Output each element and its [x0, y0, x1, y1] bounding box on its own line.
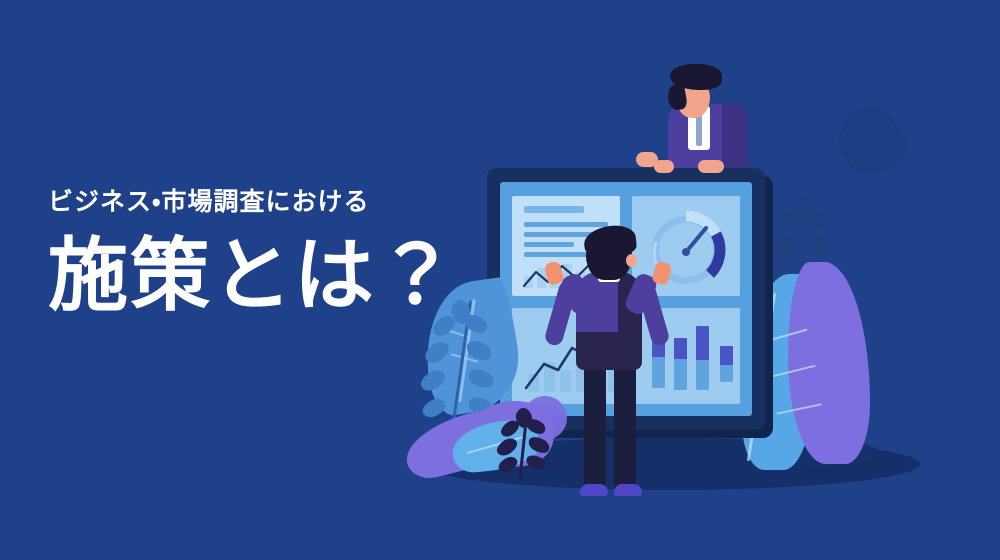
presenter-ear: [626, 254, 637, 267]
presenter-shoe-left: [580, 484, 608, 496]
presenter-shoe-right: [614, 484, 642, 496]
observer-hand-right: [698, 160, 724, 173]
page-subtitle: ビジネス・市場調査における: [48, 186, 478, 220]
presenter-leg-right: [614, 364, 636, 490]
sprig-dark-icon: [492, 408, 558, 480]
bar-chart-bar: [720, 346, 733, 382]
observer-hand-far-left: [636, 152, 658, 167]
leaf-right-purple-half: [788, 262, 870, 464]
presenter-hand-right: [652, 260, 673, 285]
report-heading-bar: [524, 206, 584, 213]
observer-top-person: [640, 62, 770, 174]
hero-banner: ビジネス・市場調査における 施策とは？: [0, 0, 1000, 560]
headline-block: ビジネス・市場調査における 施策とは？: [48, 186, 478, 318]
presenter-leg-left: [584, 364, 606, 490]
bar-chart-bar: [696, 326, 709, 390]
presenter-front-person: [540, 218, 680, 508]
presenter-hand-left: [544, 260, 565, 285]
observer-jacket-shadow: [722, 104, 748, 168]
